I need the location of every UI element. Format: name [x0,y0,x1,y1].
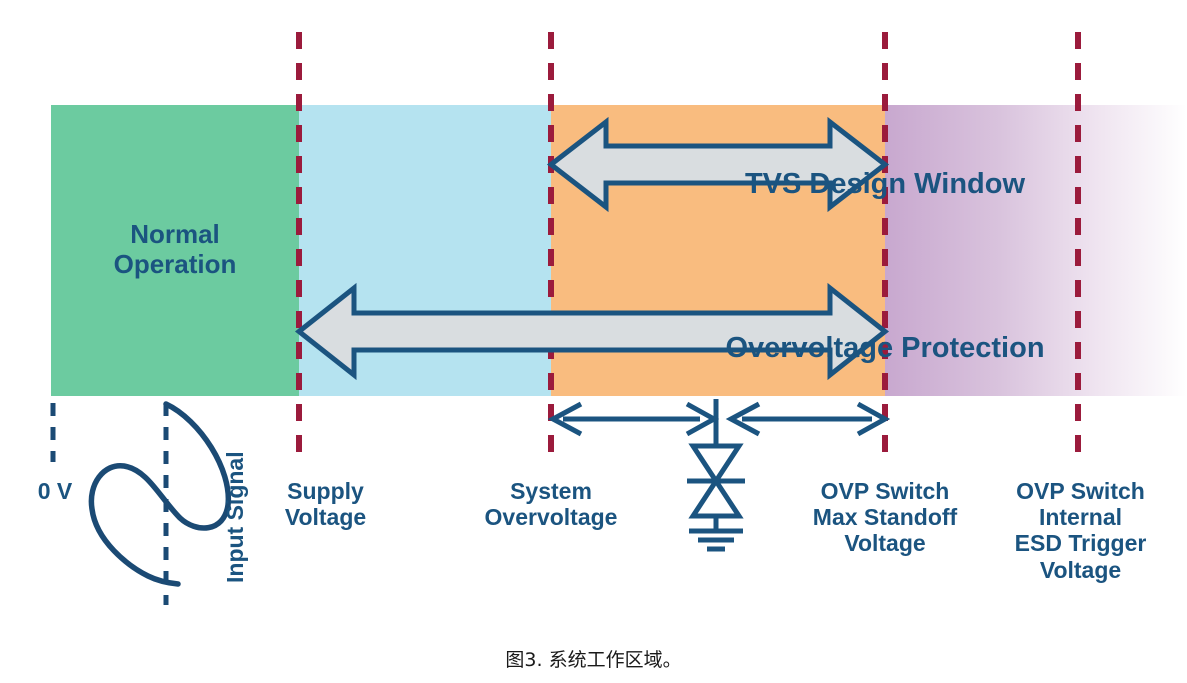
band-label-normal-operation: Normal Operation [51,220,299,279]
overvoltage-protection-text: Overvoltage Protection [592,332,1178,365]
axis-label-ovp-esd-trigger: OVP Switch Internal ESD Trigger Voltage [978,478,1183,583]
system-operating-regions-figure: Normal Operation TVS Design Window Overv… [0,0,1187,683]
axis-label-supply-voltage: Supply Voltage [258,478,393,530]
right-standoff-measure-arrow [731,404,885,434]
figure-caption: 图3. 系统工作区域。 [0,645,1187,672]
axis-label-ovp-max-standoff: OVP Switch Max Standoff Voltage [775,478,995,557]
tvs-design-window-label: TVS Design Window [551,150,885,186]
axis-label-zero-volt: 0 V [18,478,92,504]
input-signal-waveform [91,404,228,584]
tvs-design-window-text: TVS Design Window [718,168,1052,201]
axis-label-input-signal: Input Signal [222,451,248,583]
axis-label-system-overvoltage: System Overvoltage [441,478,661,530]
overvoltage-protection-label: Overvoltage Protection [299,314,885,350]
left-standoff-measure-arrow [553,404,714,434]
